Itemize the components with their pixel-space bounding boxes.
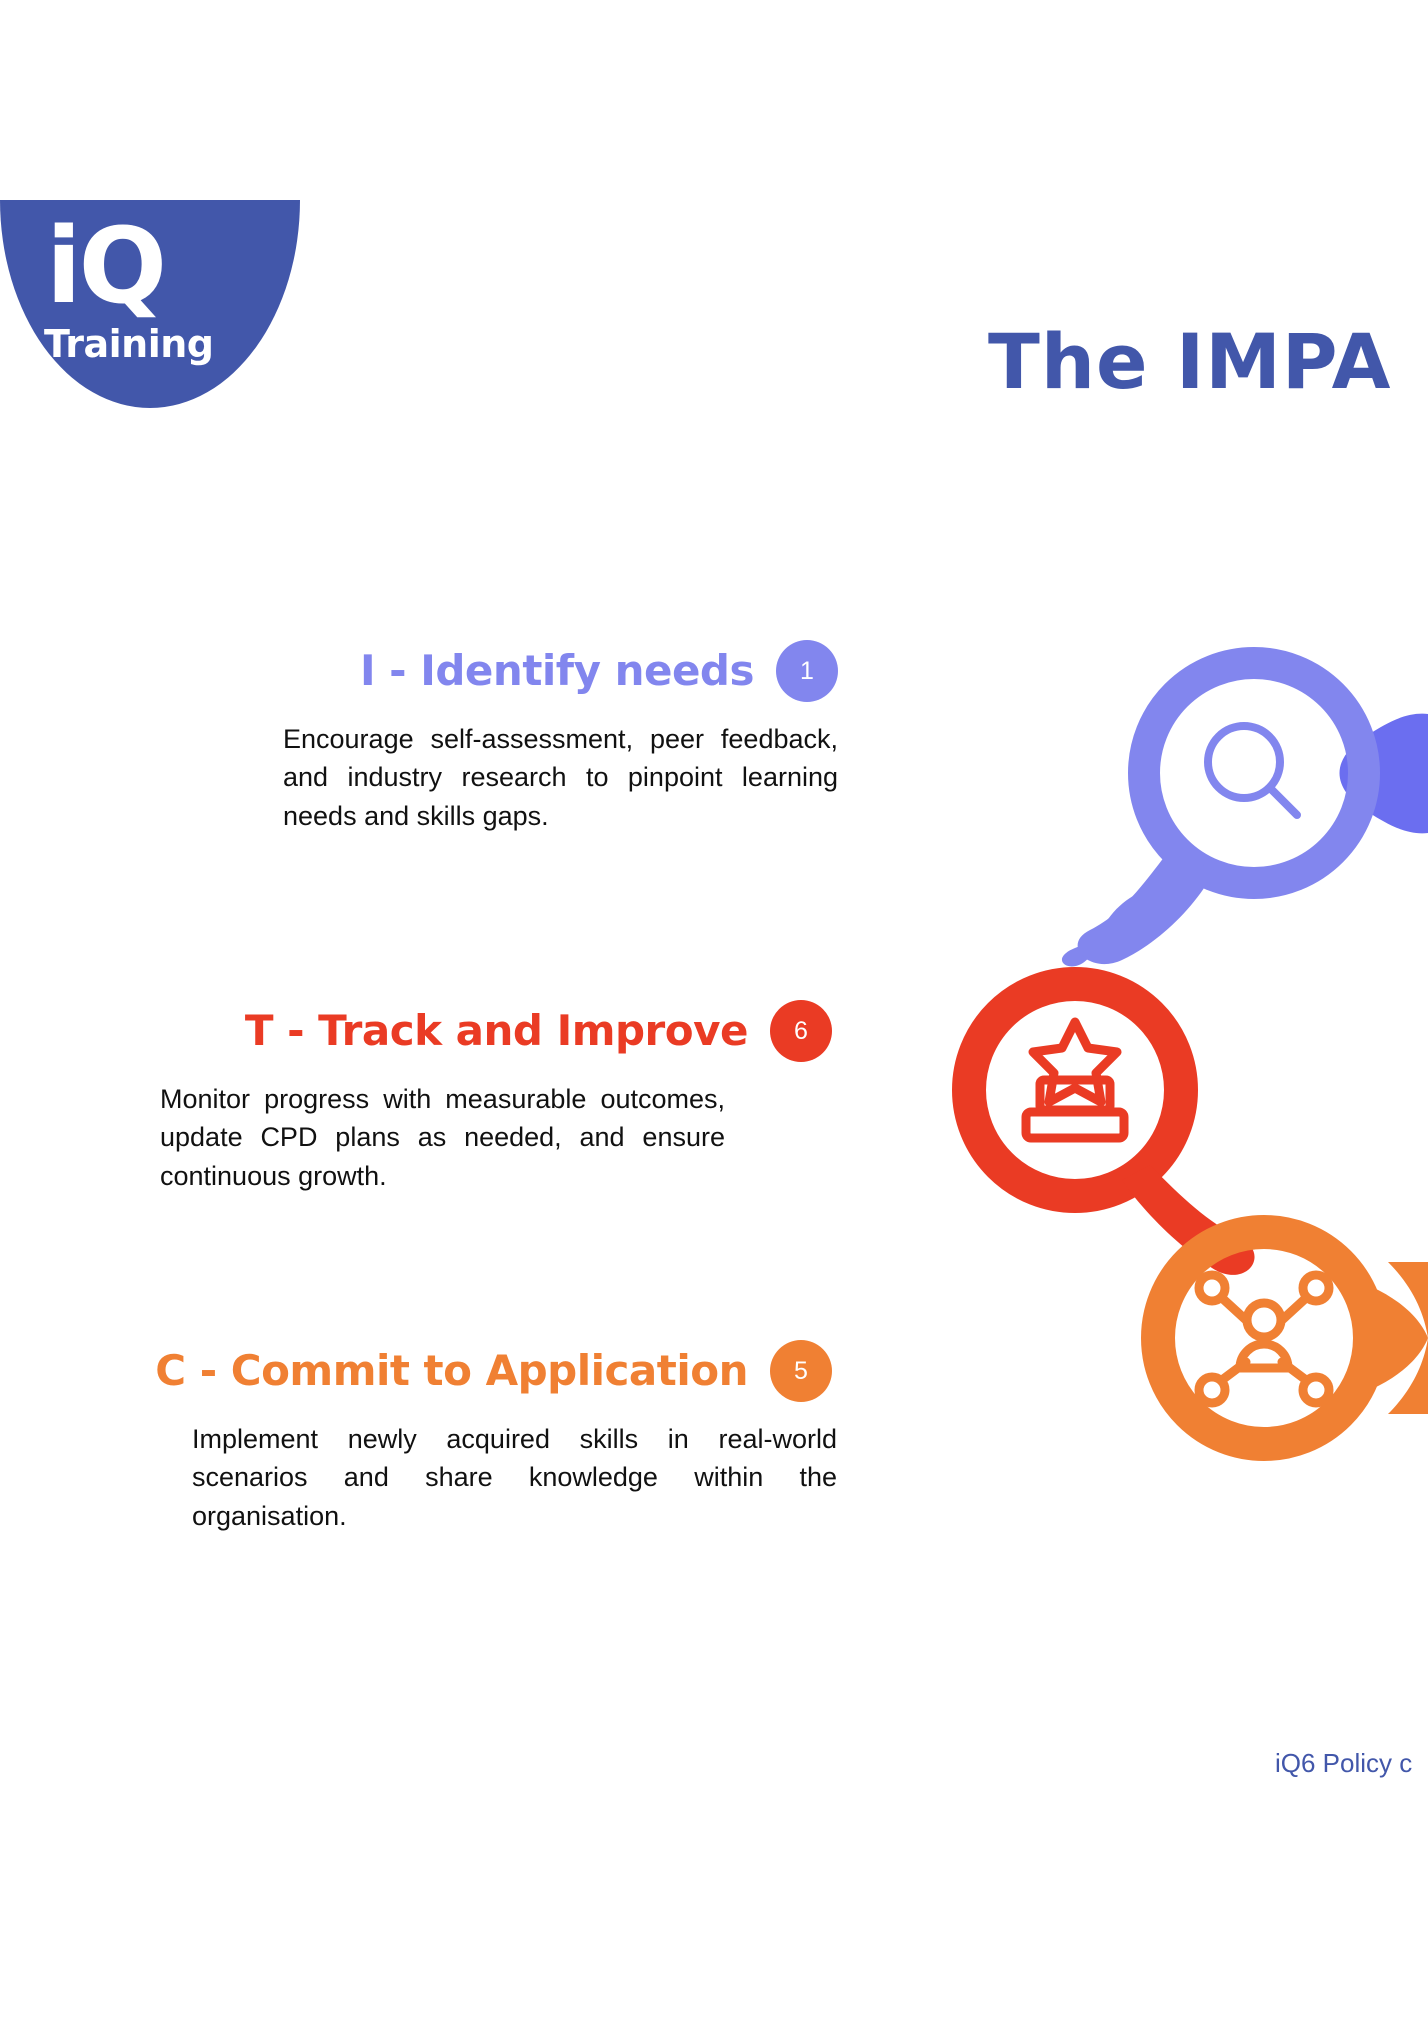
- connector-purple: [1340, 714, 1428, 834]
- step-track-and-improve: T - Track and Improve 6 Monitor progress…: [160, 1000, 832, 1195]
- step-body-text: Implement newly acquired skills in real-…: [192, 1420, 837, 1535]
- step-badge: 1: [776, 640, 838, 702]
- footer-text: iQ6 Policy c: [1275, 1748, 1412, 1779]
- step-title: I - Identify needs: [360, 650, 754, 692]
- connector-orange: [1372, 1287, 1428, 1389]
- connector-orange-edge: [1388, 1262, 1428, 1414]
- network-people-icon: [1199, 1275, 1329, 1403]
- trophy-icon: [1026, 1022, 1124, 1138]
- step-title: T - Track and Improve: [245, 1010, 748, 1052]
- step-header: C - Commit to Application 5: [160, 1340, 832, 1402]
- step-icon-circle-identify: [1144, 663, 1364, 883]
- step-icon-circle-commit: [1158, 1232, 1370, 1444]
- step-icon-tail-track: [1122, 1165, 1255, 1275]
- magnifier-icon: [1208, 726, 1297, 815]
- page-title: The IMPA: [988, 320, 1391, 404]
- brand-logo: iQ Training: [0, 200, 300, 408]
- step-identify-needs: I - Identify needs 1 Encourage self-asse…: [278, 640, 838, 835]
- brand-logo-mark: iQ: [46, 214, 164, 318]
- step-commit-to-application: C - Commit to Application 5 Implement ne…: [160, 1340, 832, 1535]
- step-badge: 5: [770, 1340, 832, 1402]
- step-body-text: Encourage self-assessment, peer feedback…: [283, 720, 838, 835]
- step-header: I - Identify needs 1: [278, 640, 838, 702]
- step-icon-tail-identify: [1078, 852, 1215, 964]
- connector-purple-tail: [1062, 855, 1190, 966]
- step-icon-circle-track: [969, 984, 1181, 1196]
- step-title: C - Commit to Application: [155, 1350, 748, 1392]
- step-body-text: Monitor progress with measurable outcome…: [160, 1080, 725, 1195]
- brand-logo-wordmark: Training: [44, 325, 214, 363]
- step-badge: 6: [770, 1000, 832, 1062]
- step-header: T - Track and Improve 6: [160, 1000, 832, 1062]
